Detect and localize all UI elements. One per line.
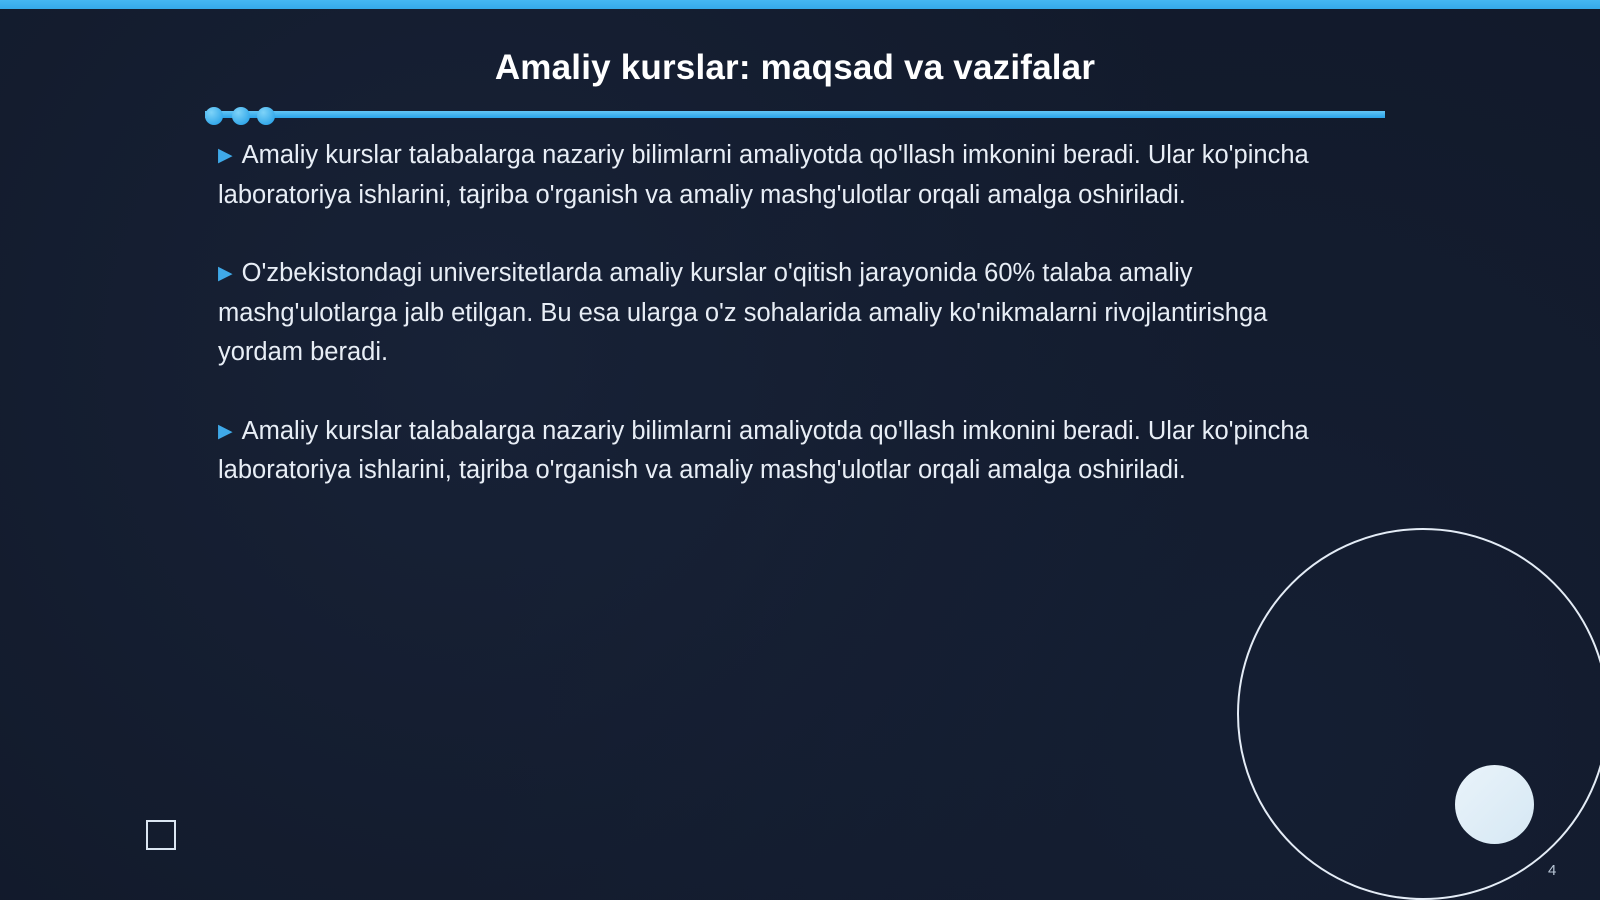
title-rule-dot-group — [205, 107, 295, 125]
list-item-text: O'zbekistondagi universitetlarda amaliy … — [218, 259, 1267, 366]
list-item-text: Amaliy kurslar talabalarga nazariy bilim… — [218, 141, 1309, 209]
rule-dot-2-icon — [232, 107, 250, 125]
list-item: ▶Amaliy kurslar talabalarga nazariy bili… — [218, 136, 1358, 215]
rule-dot-1-icon — [205, 107, 223, 125]
top-accent-bar — [0, 0, 1600, 9]
square-outline-decoration-icon — [146, 820, 176, 850]
triangle-bullet-icon: ▶ — [218, 263, 233, 284]
list-item-text: Amaliy kurslar talabalarga nazariy bilim… — [218, 417, 1309, 485]
filled-circle-decoration-icon — [1455, 765, 1534, 844]
list-item: ▶O'zbekistondagi universitetlarda amaliy… — [218, 254, 1358, 373]
triangle-bullet-icon: ▶ — [218, 145, 233, 166]
title-underline-rule — [205, 111, 1385, 118]
triangle-bullet-icon: ▶ — [218, 421, 233, 442]
page-title: Amaliy kurslar: maqsad va vazifalar — [200, 48, 1390, 88]
bullet-list: ▶Amaliy kurslar talabalarga nazariy bili… — [218, 136, 1358, 491]
list-item: ▶Amaliy kurslar talabalarga nazariy bili… — [218, 412, 1358, 491]
page-number: 4 — [1548, 862, 1556, 880]
circle-outline-decoration-icon — [1237, 528, 1600, 900]
slide-canvas: Amaliy kurslar: maqsad va vazifalar ▶Ama… — [0, 0, 1600, 900]
rule-dot-3-icon — [257, 107, 275, 125]
